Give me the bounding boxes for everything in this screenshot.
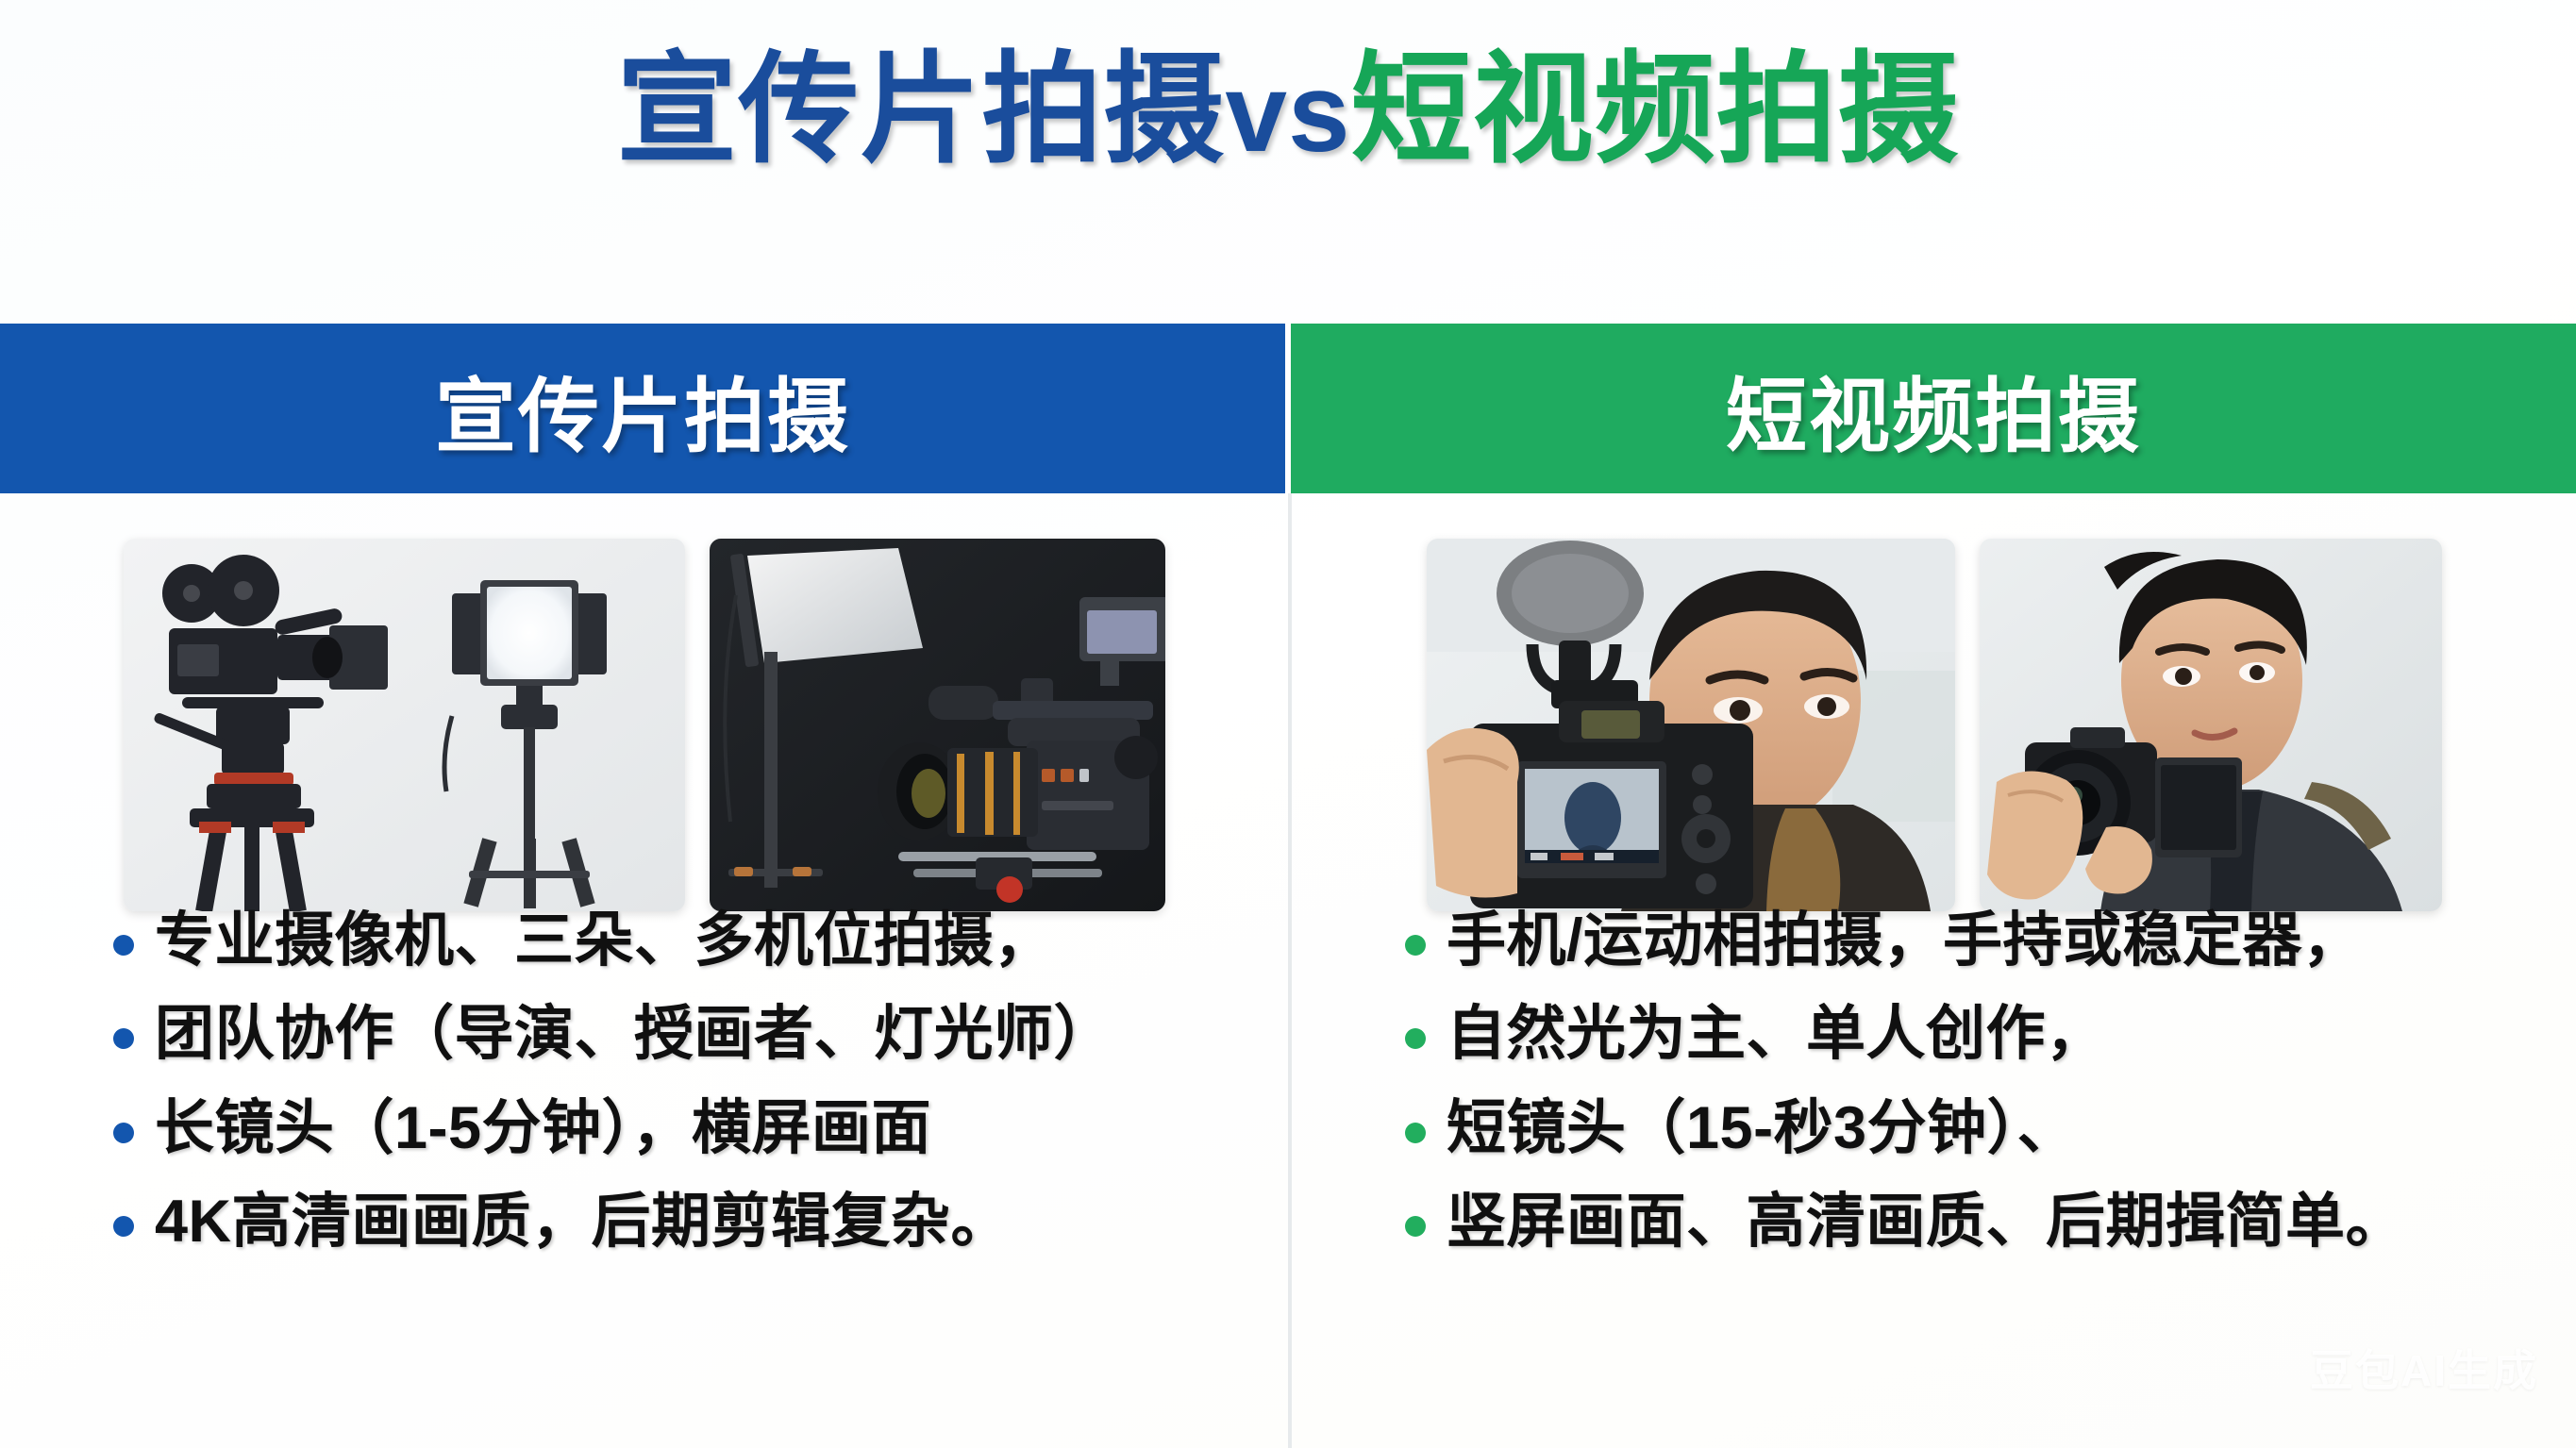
title-left-part: 宣传片拍摄 [616,42,1225,177]
bullet-text: 长镜头（1-5分钟），横屏画面 [155,1096,931,1161]
list-item: 手机/运动相拍摄，手持或稳定器， [1405,908,2538,974]
bullet-text: 竖屏画面、高清画质、后期揖简单。 [1447,1190,2405,1255]
bullet-dot-icon [113,1123,134,1143]
bullet-text: 专业摄像机、三朵、多机位拍摄， [155,908,1054,974]
bullet-list-left: 专业摄像机、三朵、多机位拍摄， 团队协作（导演、授画者、灯光师） 长镜头（1-5… [0,908,1288,1283]
column-header-left: 宣传片拍摄 [0,324,1285,493]
bullet-text: 手机/运动相拍摄，手持或稳定器， [1447,908,2363,974]
photo-camera-rig-dark-studio [710,539,1165,911]
bullet-text: 团队协作（导演、授画者、灯光师） [155,1002,1113,1067]
title-separator: vs [1225,51,1350,175]
list-item: 自然光为主、单人创作， [1405,1002,2538,1067]
photo-creator-with-shotgun-mic [1427,539,1955,911]
bullet-dot-icon [113,1028,134,1049]
photo-strip-left [0,493,1288,911]
column-short-video: 手机/运动相拍摄，手持或稳定器， 自然光为主、单人创作， 短镜头（15-秒3分钟… [1288,493,2576,1448]
photo-creator-reviewing-screen [1980,539,2442,911]
column-header-left-label: 宣传片拍摄 [435,350,850,468]
list-item: 竖屏画面、高清画质、后期揖简单。 [1405,1190,2538,1255]
bullet-dot-icon [1405,1123,1426,1143]
list-item: 短镜头（15-秒3分钟）、 [1405,1096,2538,1161]
bullet-text: 短镜头（15-秒3分钟）、 [1447,1096,2077,1161]
list-item: 4K高清画画质，后期剪辑复杂。 [113,1190,1250,1255]
bullet-dot-icon [1405,1028,1426,1049]
list-item: 专业摄像机、三朵、多机位拍摄， [113,908,1250,974]
watermark: 豆包AI生成 [2310,1337,2538,1399]
bullet-dot-icon [113,1216,134,1237]
comparison-body: 专业摄像机、三朵、多机位拍摄， 团队协作（导演、授画者、灯光师） 长镜头（1-5… [0,493,2576,1448]
photo-strip-right [1292,493,2576,911]
slide-root: 宣传片拍摄vs短视频拍摄 宣传片拍摄 短视频拍摄 [0,0,2576,1448]
column-header-right-label: 短视频拍摄 [1726,350,2141,468]
list-item: 团队协作（导演、授画者、灯光师） [113,1002,1250,1067]
list-item: 长镜头（1-5分钟），横屏画面 [113,1096,1250,1161]
bullet-text: 自然光为主、单人创作， [1447,1002,2106,1067]
photo-cinema-camera-and-light [124,539,685,911]
column-header-row: 宣传片拍摄 短视频拍摄 [0,324,2576,493]
bullet-dot-icon [1405,1216,1426,1237]
bullet-dot-icon [1405,935,1426,956]
bullet-dot-icon [113,935,134,956]
bullet-text: 4K高清画画质，后期剪辑复杂。 [155,1190,1011,1255]
column-promo-film: 专业摄像机、三朵、多机位拍摄， 团队协作（导演、授画者、灯光师） 长镜头（1-5… [0,493,1288,1448]
bullet-list-right: 手机/运动相拍摄，手持或稳定器， 自然光为主、单人创作， 短镜头（15-秒3分钟… [1292,908,2576,1283]
column-header-right: 短视频拍摄 [1291,324,2576,493]
title-right-part: 短视频拍摄 [1351,42,1960,177]
slide-title: 宣传片拍摄vs短视频拍摄 [0,21,2576,200]
